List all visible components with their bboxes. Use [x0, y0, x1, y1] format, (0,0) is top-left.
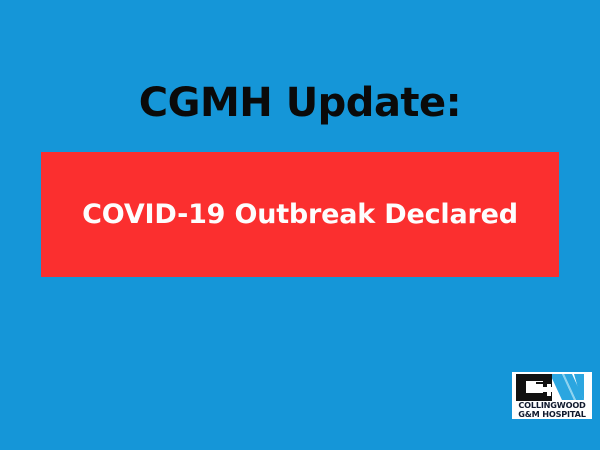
hospital-name-line-1: COLLINGWOOD	[512, 401, 592, 410]
hospital-logo-wordmark: COLLINGWOOD G&M HOSPITAL	[512, 401, 592, 419]
alert-banner: COVID-19 Outbreak Declared	[41, 152, 559, 277]
slide-canvas: CGMH Update: COVID-19 Outbreak Declared	[0, 0, 600, 450]
hospital-name-line-2: G&M HOSPITAL	[512, 410, 592, 419]
page-title: CGMH Update:	[0, 80, 600, 126]
alert-banner-text: COVID-19 Outbreak Declared	[82, 199, 518, 230]
hospital-logo-mark-icon	[512, 372, 592, 402]
hospital-logo: COLLINGWOOD G&M HOSPITAL	[512, 372, 592, 419]
